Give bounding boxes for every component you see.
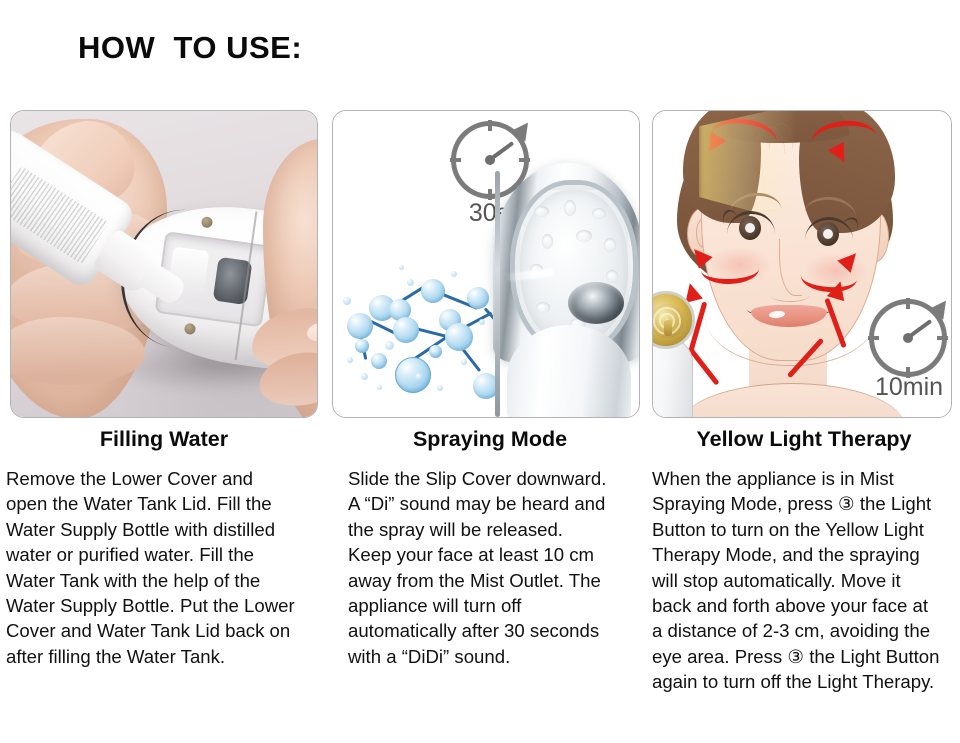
mist-speck — [415, 373, 423, 381]
outlet-dot — [606, 270, 618, 283]
mist-speck — [343, 297, 351, 305]
light-therapy-device — [652, 291, 703, 418]
device-handle — [507, 325, 631, 418]
step-description-spraying-mode: Slide the Slip Cover downward. A “Di” so… — [348, 466, 648, 669]
outlet-dot — [576, 230, 592, 242]
mist-speck — [399, 265, 404, 270]
outlet-dot — [534, 206, 549, 217]
light-head — [652, 291, 695, 349]
outlet-dot — [564, 200, 576, 216]
step-caption-filling-water: Filling Water — [4, 427, 324, 452]
water-bubble — [355, 339, 369, 353]
step-caption-spraying-mode: Spraying Mode — [330, 427, 650, 452]
mist-speck — [461, 359, 467, 365]
eye-highlight — [745, 223, 755, 233]
eye-highlight — [823, 229, 833, 239]
water-bubble — [421, 279, 445, 303]
stopwatch-tick — [937, 336, 948, 340]
step-description-yellow-light-therapy: When the appliance is in Mist Spraying M… — [652, 466, 958, 695]
mist-speck — [361, 373, 368, 380]
mist-speck — [407, 279, 414, 286]
step-image-yellow-light-therapy: 10min — [652, 110, 952, 418]
mist-speck — [437, 385, 443, 391]
therapy-duration-label: 10min — [835, 373, 952, 402]
iris — [817, 222, 839, 246]
eye-left — [727, 211, 775, 243]
stopwatch-tick — [519, 158, 530, 162]
stopwatch-tick — [450, 158, 461, 162]
mist-speck — [451, 271, 457, 277]
mist-nozzle — [568, 282, 624, 324]
step-image-filling-water — [10, 110, 318, 418]
device-chrome-edge — [495, 171, 500, 417]
step-caption-yellow-light-therapy: Yellow Light Therapy — [652, 427, 956, 452]
steps-gallery: 30s — [0, 110, 960, 420]
step-description-filling-water: Remove the Lower Cover and open the Wate… — [6, 466, 328, 669]
mist-speck — [377, 385, 382, 390]
water-bubble — [371, 353, 387, 369]
mist-outlet — [493, 163, 640, 418]
water-bubble — [445, 323, 473, 351]
stopwatch-tick — [906, 298, 910, 309]
water-bubble — [395, 357, 431, 393]
step-image-spraying-mode: 30s — [332, 110, 640, 418]
water-bubble — [429, 345, 442, 358]
mist-speck — [479, 319, 485, 325]
led-center-pin — [664, 320, 672, 336]
water-bubble — [393, 317, 419, 343]
page-title: HOW TO USE: — [78, 30, 302, 66]
stopwatch-tick — [488, 120, 492, 131]
outlet-dot — [592, 208, 606, 219]
outlet-dot — [542, 234, 553, 249]
outlet-dot — [536, 302, 550, 313]
mist-speck — [385, 341, 394, 350]
stopwatch-hub — [903, 333, 913, 343]
water-bubble — [467, 287, 489, 309]
mist-speck — [347, 357, 353, 363]
stopwatch-tick — [868, 336, 879, 340]
eye-right — [805, 217, 853, 249]
outlet-dot — [604, 238, 616, 252]
water-bubble — [347, 313, 373, 339]
iris — [739, 216, 761, 240]
device-body — [652, 337, 693, 418]
stopwatch-icon — [869, 299, 947, 377]
